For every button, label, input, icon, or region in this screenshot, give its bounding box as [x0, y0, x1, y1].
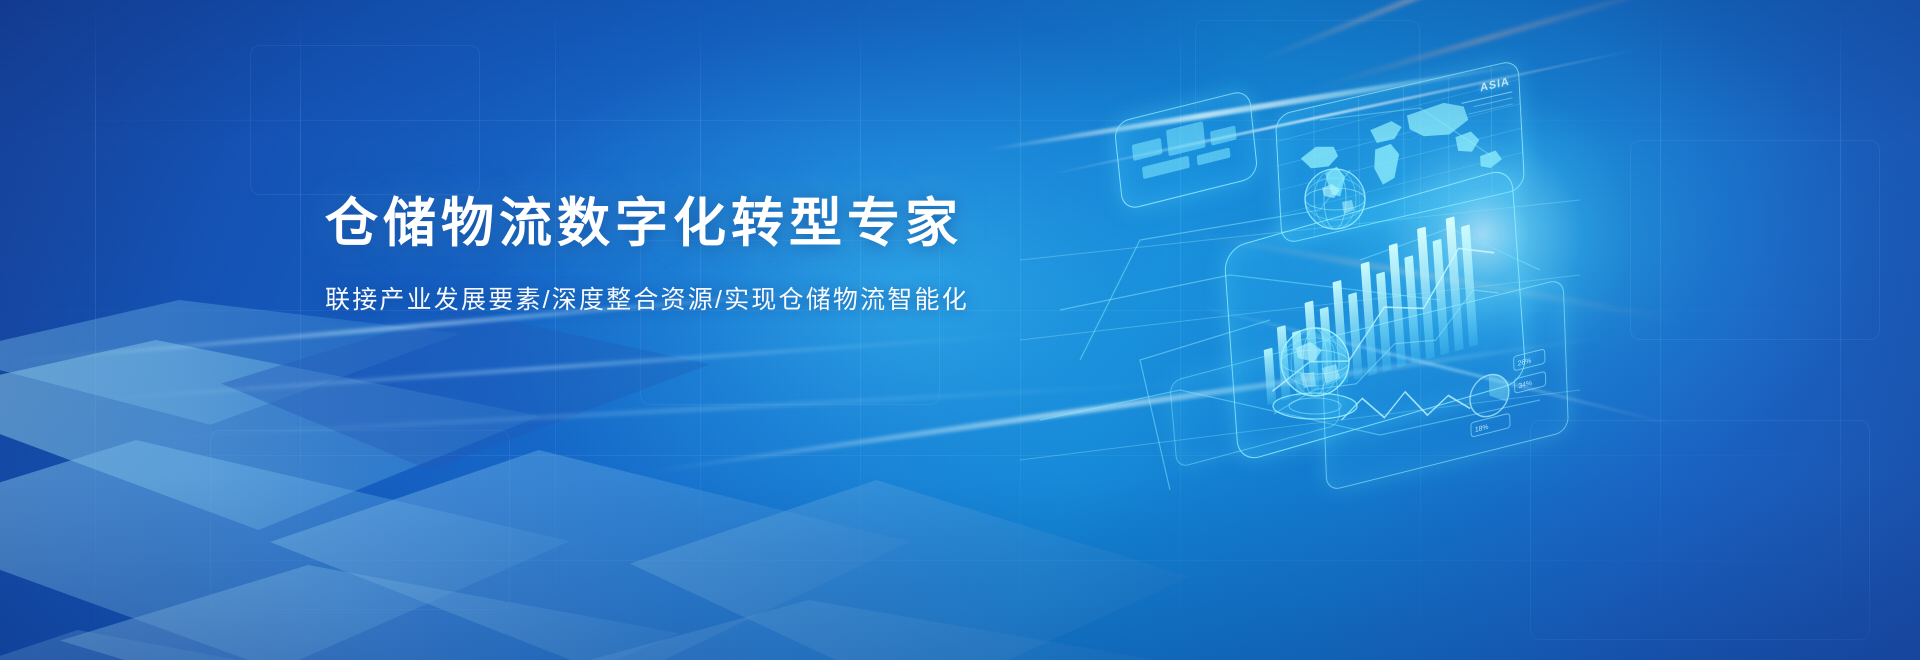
- hero-copy: 仓储物流数字化转型专家 联接产业发展要素/深度整合资源/实现仓储物流智能化: [325, 193, 1025, 316]
- hero-banner: ASIA: [0, 0, 1920, 660]
- background-vignette: [0, 0, 1920, 660]
- page-subtitle: 联接产业发展要素/深度整合资源/实现仓储物流智能化: [325, 280, 1025, 316]
- page-title: 仓储物流数字化转型专家: [325, 193, 1025, 256]
